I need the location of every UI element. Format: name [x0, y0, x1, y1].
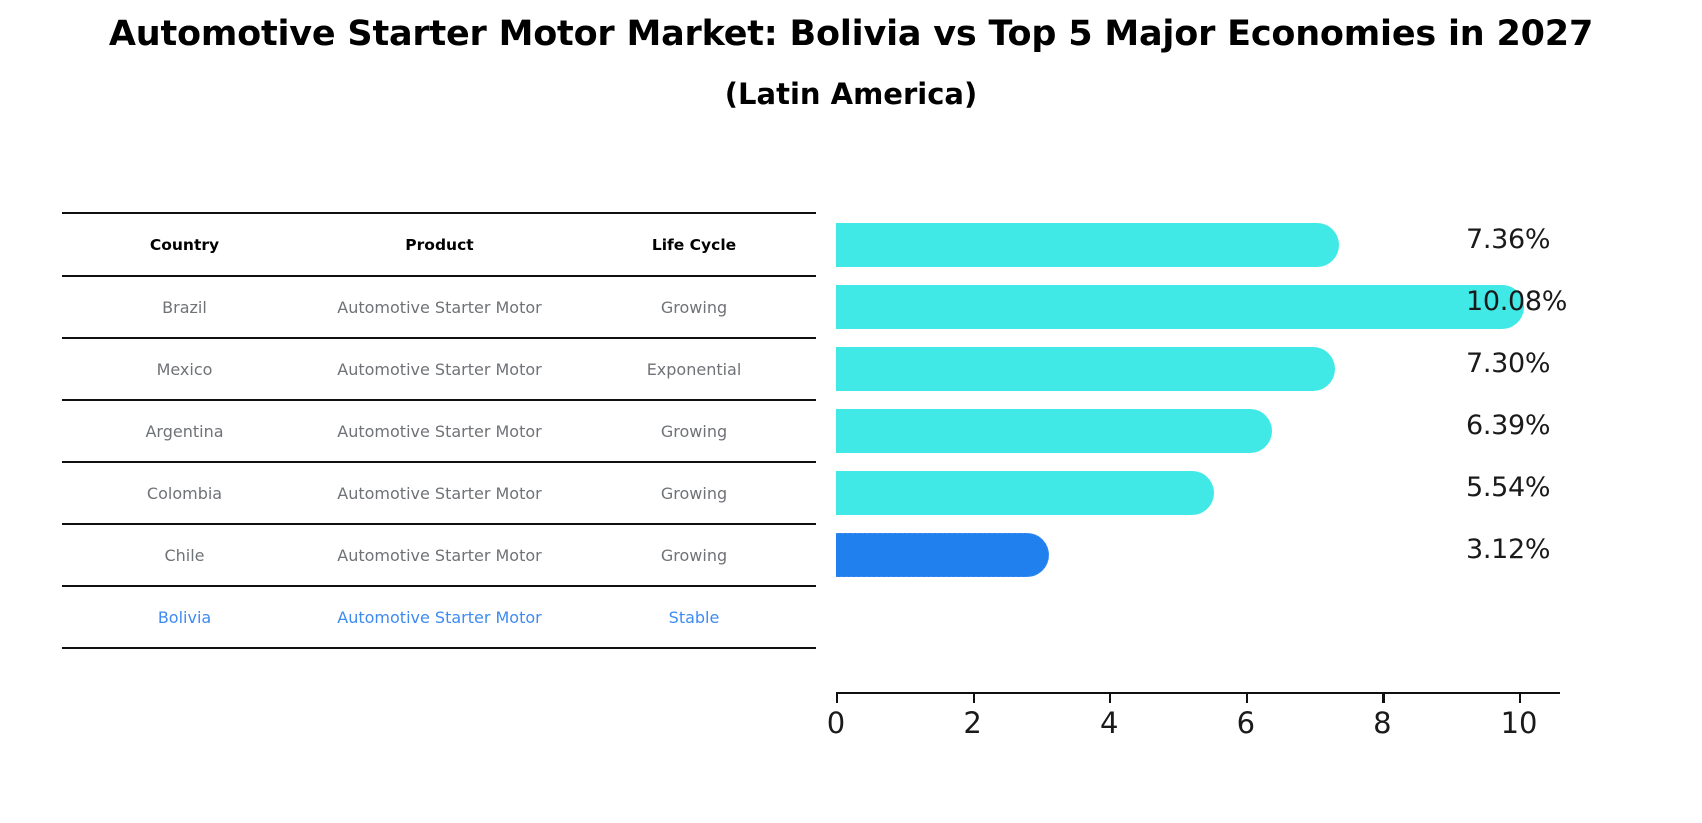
- table-row: BrazilAutomotive Starter MotorGrowing: [62, 276, 816, 338]
- bar-value-label: 5.54%: [1466, 472, 1550, 503]
- country-cell: Mexico: [62, 338, 307, 400]
- bar-row: 10.08%: [836, 274, 1536, 336]
- country-cell: Brazil: [62, 276, 307, 338]
- x-axis-tick: [1382, 692, 1384, 703]
- product-cell: Automotive Starter Motor: [307, 276, 572, 338]
- country-cell: Colombia: [62, 462, 307, 524]
- product-cell: Automotive Starter Motor: [307, 462, 572, 524]
- x-axis-tick: [836, 692, 838, 703]
- bar-row: 7.36%: [836, 212, 1536, 274]
- table-header-row: Country Product Life Cycle: [62, 213, 816, 276]
- x-axis-tick: [973, 692, 975, 703]
- x-axis-tick: [1519, 692, 1521, 703]
- x-axis-tick-label: 6: [1237, 706, 1255, 740]
- product-cell: Automotive Starter Motor: [307, 400, 572, 462]
- bar-value-label: 7.36%: [1466, 224, 1550, 255]
- x-axis: 0246810: [836, 692, 1560, 752]
- bar[interactable]: [836, 409, 1272, 453]
- country-product-table: Country Product Life Cycle BrazilAutomot…: [62, 212, 816, 649]
- table-row: ChileAutomotive Starter MotorGrowing: [62, 524, 816, 586]
- chart-title-block: Automotive Starter Motor Market: Bolivia…: [0, 8, 1702, 116]
- product-cell: Automotive Starter Motor: [307, 338, 572, 400]
- bar-row: 3.12%: [836, 522, 1536, 584]
- bar-value-label: 3.12%: [1466, 534, 1550, 565]
- table-row: ColombiaAutomotive Starter MotorGrowing: [62, 462, 816, 524]
- table-head: Country Product Life Cycle: [62, 213, 816, 276]
- bar-row: 7.30%: [836, 336, 1536, 398]
- page-title: Automotive Starter Motor Market: Bolivia…: [0, 8, 1702, 60]
- table-body: BrazilAutomotive Starter MotorGrowingMex…: [62, 276, 816, 648]
- country-cell: Chile: [62, 524, 307, 586]
- column-header-life-cycle: Life Cycle: [572, 213, 816, 276]
- x-axis-tick-label: 2: [963, 706, 981, 740]
- country-cell: Bolivia: [62, 586, 307, 648]
- x-axis-tick: [1246, 692, 1248, 703]
- table-row: MexicoAutomotive Starter MotorExponentia…: [62, 338, 816, 400]
- bar[interactable]: [836, 223, 1339, 267]
- product-cell: Automotive Starter Motor: [307, 586, 572, 648]
- bar-row: 6.39%: [836, 398, 1536, 460]
- country-cell: Argentina: [62, 400, 307, 462]
- bar[interactable]: [836, 347, 1335, 391]
- life-cycle-cell: Exponential: [572, 338, 816, 400]
- life-cycle-cell: Stable: [572, 586, 816, 648]
- x-axis-tick-label: 10: [1501, 706, 1538, 740]
- x-axis-line: [836, 692, 1560, 694]
- column-header-country: Country: [62, 213, 307, 276]
- bar[interactable]: [836, 285, 1524, 329]
- table-row: ArgentinaAutomotive Starter MotorGrowing: [62, 400, 816, 462]
- life-cycle-cell: Growing: [572, 462, 816, 524]
- x-axis-tick: [1109, 692, 1111, 703]
- life-cycle-cell: Growing: [572, 524, 816, 586]
- column-header-product: Product: [307, 213, 572, 276]
- product-cell: Automotive Starter Motor: [307, 524, 572, 586]
- bar-value-label: 6.39%: [1466, 410, 1550, 441]
- table-row: BoliviaAutomotive Starter MotorStable: [62, 586, 816, 648]
- x-axis-tick-label: 8: [1373, 706, 1391, 740]
- x-axis-tick-label: 0: [827, 706, 845, 740]
- bar-value-label: 7.30%: [1466, 348, 1550, 379]
- x-axis-tick-label: 4: [1100, 706, 1118, 740]
- data-table-panel: Country Product Life Cycle BrazilAutomot…: [62, 212, 816, 649]
- life-cycle-cell: Growing: [572, 400, 816, 462]
- bar-chart: 7.36%10.08%7.30%6.39%5.54%3.12%: [836, 212, 1536, 692]
- life-cycle-cell: Growing: [572, 276, 816, 338]
- bar[interactable]: [836, 471, 1214, 515]
- bar-highlighted[interactable]: [836, 533, 1049, 577]
- bar-row: 5.54%: [836, 460, 1536, 522]
- page-subtitle: (Latin America): [0, 72, 1702, 116]
- bar-value-label: 10.08%: [1466, 286, 1567, 317]
